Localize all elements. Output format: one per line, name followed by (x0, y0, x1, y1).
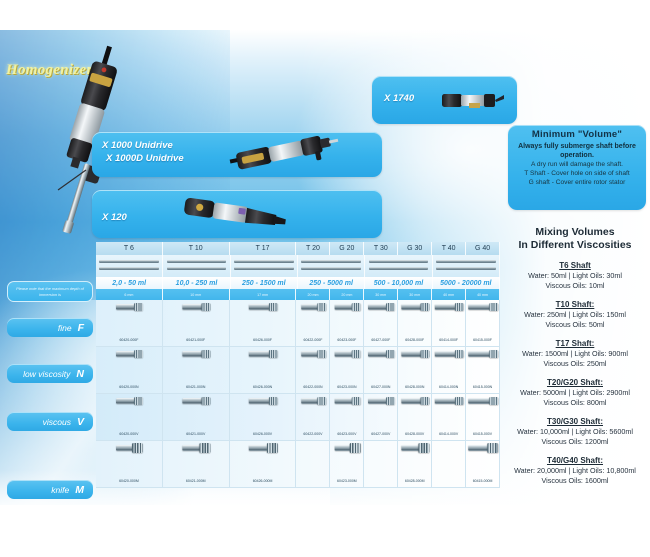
shaft-name: T6 Shaft (500, 260, 650, 271)
shaft-tool-icon (468, 304, 498, 310)
product-code: 60420-000V (119, 432, 138, 437)
shaft-tool-icon (248, 304, 276, 310)
product-cell[interactable]: 60423-000N (330, 347, 364, 394)
shaft-diagram (365, 255, 432, 277)
shaft-volume-block: T17 Shaft: Water: 1500ml | Light Oils: 9… (500, 338, 650, 369)
product-cell[interactable]: 60420-000F (96, 300, 163, 347)
handheld-homogenizer-icon (178, 197, 318, 233)
shaft-diameter-label: 17 mm (230, 289, 297, 300)
shaft-volume-line-1: Water: 50ml | Light Oils: 30ml (500, 271, 650, 281)
shaft-tool-icon (368, 351, 394, 357)
callout-x1000d-label: X 1000D Unidrive (106, 153, 184, 164)
shaft-tool-icon (334, 351, 359, 357)
product-cell[interactable]: 60415-000F (466, 300, 500, 347)
minimum-volume-title: Minimum "Volume" (508, 129, 646, 140)
shaft-diagram (298, 255, 365, 277)
shaft-tool-icon (182, 351, 209, 357)
shaft-tool-icon (334, 304, 359, 310)
shaft-volume-line-2: Viscous Oils: 50ml (500, 320, 650, 330)
mixing-volumes-heading-1: Mixing Volumes (500, 226, 650, 239)
homogenizer-drive-icon (220, 135, 370, 175)
product-code: 60422-000N (303, 385, 322, 390)
shaft-tool-icon (334, 445, 359, 451)
volume-range-label: 500 - 10,000 ml (365, 277, 432, 289)
category-fine-word: fine (58, 323, 72, 333)
category-knife-letter: M (75, 484, 84, 496)
shaft-diameter-label: 40 mm (466, 289, 500, 300)
shaft-volume-block: T6 Shaft Water: 50ml | Light Oils: 30ml … (500, 260, 650, 291)
shaft-volume-line-1: Water: 10,000ml | Light Oils: 5600ml (500, 427, 650, 437)
shaft-tool-icon (468, 445, 498, 451)
shaft-name: T40/G40 Shaft: (500, 455, 650, 466)
product-cell[interactable]: 60420-000N (96, 347, 163, 394)
product-cell[interactable]: 60428-000M (398, 441, 432, 488)
product-cell[interactable]: 60426-000M (230, 441, 297, 488)
product-cell[interactable]: 60428-000V (398, 394, 432, 441)
table-volume-range-row: 2,0 - 50 ml10,0 - 250 ml250 - 1500 ml250… (96, 277, 500, 289)
shaft-tool-icon (116, 398, 142, 404)
product-code: 60428-000V (405, 432, 424, 437)
callout-x120[interactable]: X 120 (92, 190, 382, 238)
product-code: 60426-000F (253, 338, 272, 343)
shaft-diameter-label: 20 mm (330, 289, 364, 300)
category-knife-word: knife (51, 485, 69, 495)
product-code: 60421-000M (186, 479, 206, 484)
shaft-tool-icon (182, 398, 209, 404)
product-cell[interactable]: 60423-000F (330, 300, 364, 347)
shaft-diagram (163, 255, 230, 277)
shaft-tool-icon (301, 398, 325, 404)
callout-x120-label: X 120 (102, 212, 127, 223)
callout-x1000[interactable]: X 1000 Unidrive X 1000D Unidrive (92, 132, 382, 177)
shaft-tool-icon (248, 351, 276, 357)
volume-range-label: 2,0 - 50 ml (96, 277, 163, 289)
product-code: 60423-000N (337, 385, 356, 390)
product-cell[interactable]: 60423-000V (330, 394, 364, 441)
shaft-volume-line-1: Water: 250ml | Light Oils: 150ml (500, 310, 650, 320)
empty-cell (432, 441, 466, 488)
shaft-tool-icon (301, 304, 325, 310)
empty-cell (296, 441, 330, 488)
shaft-tool-icon (248, 445, 276, 451)
product-cell[interactable]: 60421-000M (163, 441, 230, 488)
product-cell[interactable]: 60414-000V (432, 394, 466, 441)
product-cell[interactable]: 60427-000N (364, 347, 398, 394)
table-row-knife[interactable]: 60420-000M60421-000M60426-000M60423-000M… (96, 441, 500, 488)
page-bottom-margin (0, 505, 650, 557)
product-code: 60415-000F (473, 338, 492, 343)
minimum-volume-line-1: A dry run will damage the shaft. (508, 160, 646, 169)
shaft-tool-icon (401, 351, 428, 357)
product-code: 60426-000M (253, 479, 273, 484)
minimum-volume-line-2: T Shaft - Cover hole on side of shaft (508, 169, 646, 178)
shaft-diagram (231, 255, 298, 277)
table-header-row: T 6T 10T 17T 20G 20T 30G 30T 40G 40 (96, 242, 500, 255)
shaft-tool-icon (401, 304, 428, 310)
shaft-volume-block: T10 Shaft: Water: 250ml | Light Oils: 15… (500, 299, 650, 330)
product-cell[interactable]: 60422-000N (296, 347, 330, 394)
product-code: 60420-000N (119, 385, 138, 390)
column-header-t10: T 10 (163, 242, 230, 255)
category-fine-letter: F (78, 322, 84, 334)
product-code: 60422-000F (304, 338, 323, 343)
shaft-volume-line-2: Viscous Oils: 1600ml (500, 476, 650, 486)
shaft-diameter-label: 20 mm (296, 289, 330, 300)
shaft-diameter-label: 30 mm (398, 289, 432, 300)
mixing-volumes-heading-2: In Different Viscosities (500, 239, 650, 252)
product-code: 60423-000F (337, 338, 356, 343)
table-diameter-row: 6 mm10 mm17 mm20 mm20 mm30 mm30 mm40 mm4… (96, 289, 500, 300)
column-header-g20: G 20 (330, 242, 364, 255)
page-top-margin (0, 0, 650, 34)
product-cell[interactable]: 60426-000V (230, 394, 297, 441)
product-code: 60426-000V (253, 432, 272, 437)
shaft-volume-line-1: Water: 20,000ml | Light Oils: 10,800ml (500, 466, 650, 476)
product-cell[interactable]: 60421-000F (163, 300, 230, 347)
product-cell[interactable]: 60420-000M (96, 441, 163, 488)
column-header-g30: G 30 (398, 242, 432, 255)
table-row-fine[interactable]: 60420-000F60421-000F60426-000F60422-000F… (96, 300, 500, 347)
shaft-volume-block: T20/G20 Shaft: Water: 5000ml | Light Oil… (500, 377, 650, 408)
empty-cell (364, 441, 398, 488)
shaft-diameter-label: 30 mm (364, 289, 398, 300)
table-row-low[interactable]: 60420-000N60421-000N60426-000N60422-000N… (96, 347, 500, 394)
shaft-tool-icon (248, 398, 276, 404)
shaft-tool-icon (182, 304, 209, 310)
product-code: 60428-000N (405, 385, 424, 390)
shaft-tool-icon (401, 445, 428, 451)
product-cell[interactable]: 60422-000V (296, 394, 330, 441)
category-low-viscosity-word: low viscosity (23, 369, 70, 379)
category-viscous-letter: V (77, 416, 84, 428)
category-viscous-word: viscous (43, 417, 71, 427)
shaft-diagram (96, 255, 163, 277)
shaft-tool-icon (301, 351, 325, 357)
shaft-name: T10 Shaft: (500, 299, 650, 310)
product-code: 60414-000V (439, 432, 458, 437)
product-code: 60420-000M (119, 479, 139, 484)
shaft-volume-line-1: Water: 5000ml | Light Oils: 2900ml (500, 388, 650, 398)
product-code: 60426-000N (253, 385, 272, 390)
shaft-selection-table: T 6T 10T 17T 20G 20T 30G 30T 40G 40 2,0 … (96, 242, 500, 488)
shaft-tool-icon (434, 304, 462, 310)
product-code: 60427-000F (371, 338, 390, 343)
shaft-volume-line-1: Water: 1500ml | Light Oils: 900ml (500, 349, 650, 359)
product-cell[interactable]: 60421-000N (163, 347, 230, 394)
product-code: 60427-000V (371, 432, 390, 437)
product-cell[interactable]: 60415-000N (466, 347, 500, 394)
product-code: 60423-000V (337, 432, 356, 437)
product-cell[interactable]: 60426-000F (230, 300, 297, 347)
column-header-t40: T 40 (432, 242, 466, 255)
shaft-tool-icon (401, 398, 428, 404)
product-code: 60414-000F (439, 338, 458, 343)
shaft-tool-icon (468, 398, 498, 404)
product-code: 60428-000F (405, 338, 424, 343)
shaft-name: T20/G20 Shaft: (500, 377, 650, 388)
mixing-volumes-panel: Mixing Volumes In Different Viscosities … (500, 226, 650, 486)
shaft-tool-icon (116, 445, 142, 451)
volume-range-label: 250 - 5000 ml (298, 277, 365, 289)
product-cell[interactable]: 60427-000F (364, 300, 398, 347)
product-code: 60421-000V (186, 432, 205, 437)
shaft-volume-block: T40/G40 Shaft: Water: 20,000ml | Light O… (500, 455, 650, 486)
shaft-tool-icon (434, 398, 462, 404)
callout-x1740-label: X 1740 (384, 93, 414, 104)
column-header-g40: G 40 (466, 242, 500, 255)
shaft-diameter-label: 10 mm (163, 289, 230, 300)
product-cell[interactable]: 60415-000M (466, 441, 500, 488)
category-viscous[interactable]: viscous V (7, 412, 93, 431)
table-shaft-diagram-row (96, 255, 500, 277)
column-header-t6: T 6 (96, 242, 163, 255)
volume-range-label: 250 - 1500 ml (231, 277, 298, 289)
volume-range-label: 10,0 - 250 ml (163, 277, 230, 289)
product-cell[interactable]: 60421-000V (163, 394, 230, 441)
product-cell[interactable]: 60423-000M (330, 441, 364, 488)
category-knife[interactable]: knife M (7, 480, 93, 499)
shaft-name: T30/G30 Shaft: (500, 416, 650, 427)
product-code: 60423-000M (337, 479, 357, 484)
shaft-diameter-label: 6 mm (96, 289, 163, 300)
minimum-volume-line-3: G shaft - Cover entire rotor stator (508, 178, 646, 187)
shaft-tool-icon (368, 398, 394, 404)
category-low-viscosity-letter: N (76, 368, 84, 380)
shaft-tool-icon (368, 304, 394, 310)
column-header-t30: T 30 (364, 242, 398, 255)
product-code: 60420-000F (119, 338, 138, 343)
callout-x1740[interactable]: X 1740 (372, 76, 517, 124)
product-cell[interactable]: 60427-000V (364, 394, 398, 441)
column-header-t17: T 17 (230, 242, 297, 255)
product-code: 60422-000V (303, 432, 322, 437)
shaft-tool-icon (434, 351, 462, 357)
product-cell[interactable]: 60428-000F (398, 300, 432, 347)
product-code: 60415-000M (473, 479, 493, 484)
product-cell[interactable]: 60420-000V (96, 394, 163, 441)
product-cell[interactable]: 60414-000N (432, 347, 466, 394)
product-cell[interactable]: 60414-000F (432, 300, 466, 347)
shaft-volume-block: T30/G30 Shaft: Water: 10,000ml | Light O… (500, 416, 650, 447)
category-fine[interactable]: fine F (7, 318, 93, 337)
shaft-name: T17 Shaft: (500, 338, 650, 349)
minimum-volume-warning: Always fully submerge shaft before opera… (508, 142, 646, 160)
column-header-t20: T 20 (296, 242, 330, 255)
shaft-volume-line-2: Viscous Oils: 800ml (500, 398, 650, 408)
product-cell[interactable]: 60428-000N (398, 347, 432, 394)
product-cell[interactable]: 60415-000V (466, 394, 500, 441)
shaft-volume-line-2: Viscous Oils: 250ml (500, 359, 650, 369)
product-cell[interactable]: 60426-000N (230, 347, 297, 394)
shaft-tool-icon (116, 351, 142, 357)
callout-x1000-label: X 1000 Unidrive (102, 140, 173, 151)
shaft-volume-line-2: Viscous Oils: 10ml (500, 281, 650, 291)
homogenizer-probe-icon (438, 85, 510, 115)
shaft-diagram (433, 255, 500, 277)
product-code: 60414-000N (439, 385, 458, 390)
shaft-diameter-label: 40 mm (432, 289, 466, 300)
shaft-tool-icon (182, 445, 209, 451)
category-low-viscosity[interactable]: low viscosity N (7, 364, 93, 383)
shaft-tool-icon (468, 351, 498, 357)
product-code: 60415-000V (473, 432, 492, 437)
product-code: 60421-000F (186, 338, 205, 343)
shaft-volume-line-2: Viscous Oils: 1200ml (500, 437, 650, 447)
product-cell[interactable]: 60422-000F (296, 300, 330, 347)
immersion-depth-note: Please note that the maximum depth of im… (7, 281, 93, 302)
product-code: 60428-000M (405, 479, 425, 484)
shaft-tool-icon (116, 304, 142, 310)
table-row-viscous[interactable]: 60420-000V60421-000V60426-000V60422-000V… (96, 394, 500, 441)
minimum-volume-callout: Minimum "Volume" Always fully submerge s… (508, 125, 646, 210)
product-code: 60421-000N (186, 385, 205, 390)
product-code: 60415-000N (473, 385, 492, 390)
product-code: 60427-000N (371, 385, 390, 390)
shaft-tool-icon (334, 398, 359, 404)
volume-range-label: 5000 - 20000 ml (433, 277, 500, 289)
